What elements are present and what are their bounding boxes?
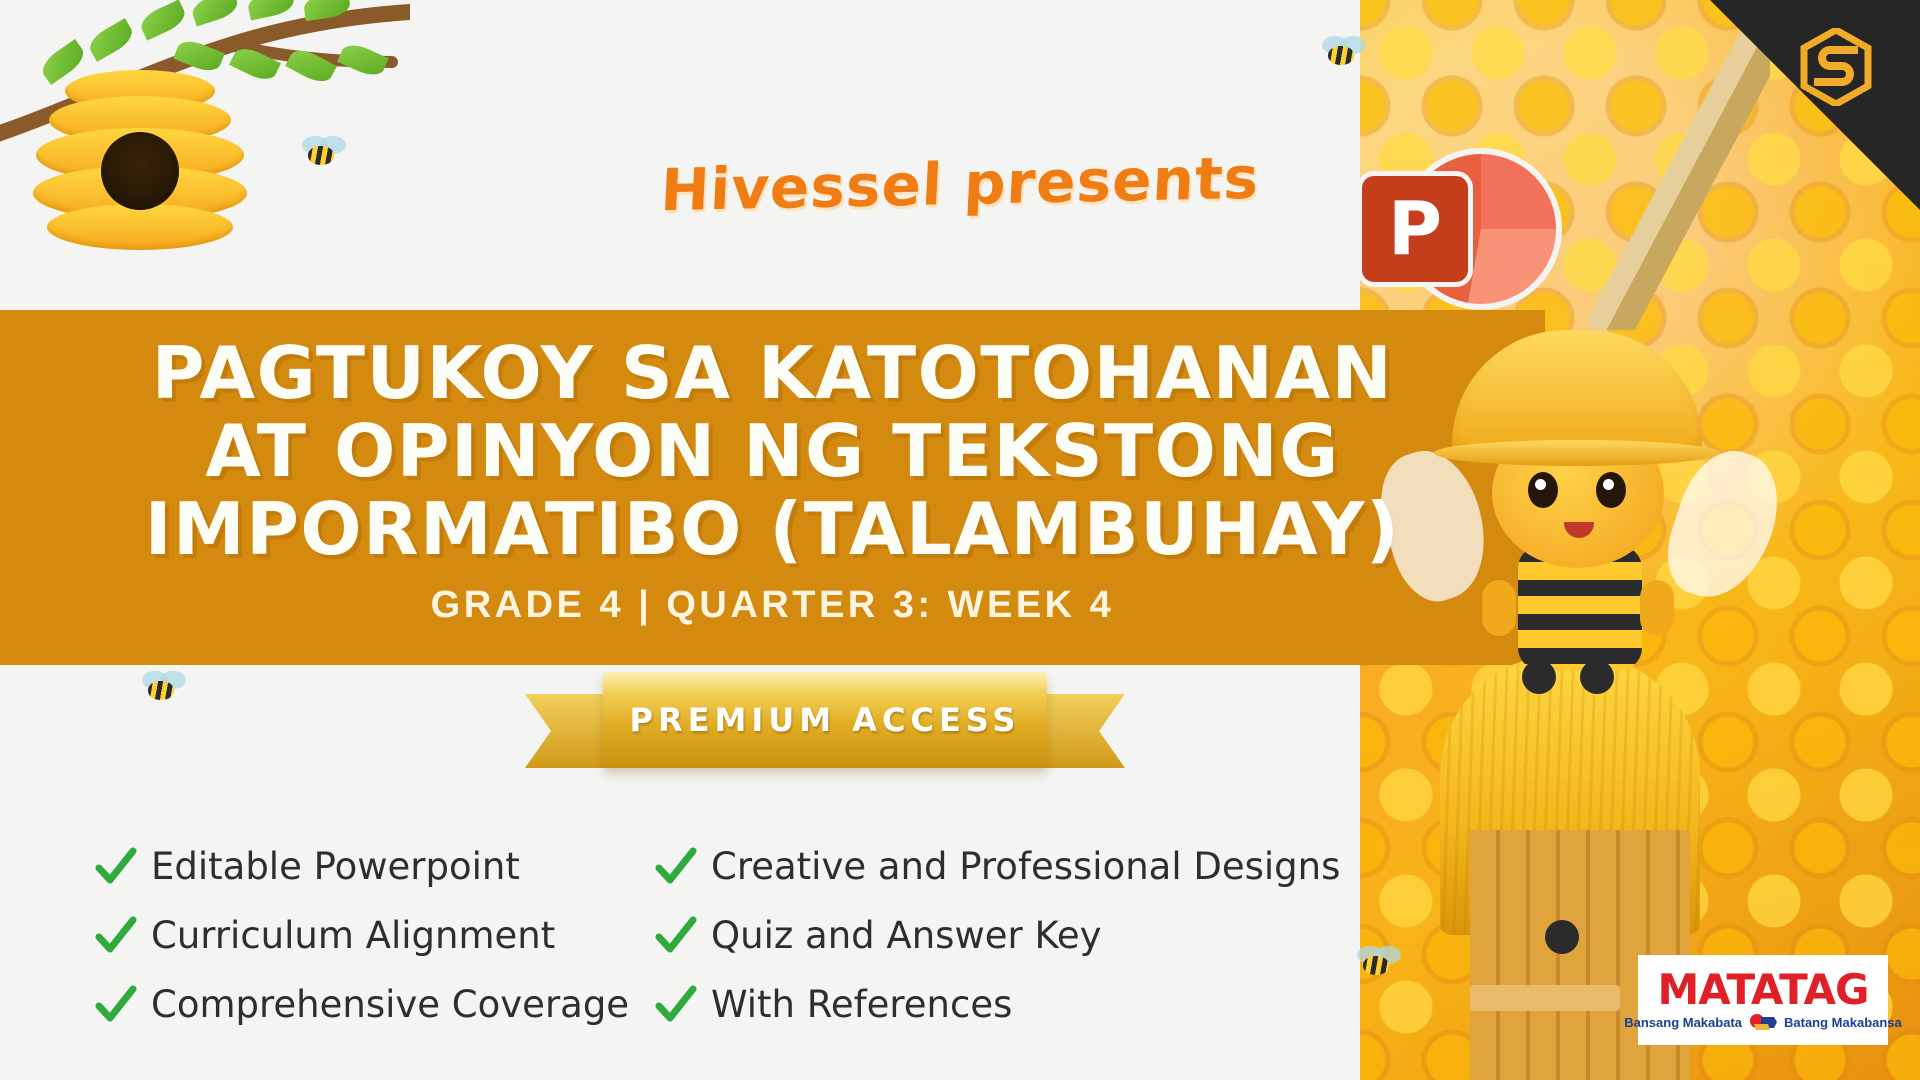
green-checkmark-icon xyxy=(95,984,137,1026)
poster-canvas: Hivessel presents P PAGTUKOY SA KATOTOHA… xyxy=(0,0,1920,1080)
fence-knot-decor xyxy=(1545,920,1579,954)
green-checkmark-icon xyxy=(655,915,697,957)
list-item: Creative and Professional Designs xyxy=(655,845,1355,888)
bee-icon xyxy=(1320,40,1366,72)
feature-column-right: Creative and Professional Designs Quiz a… xyxy=(655,845,1355,1026)
feature-label: Editable Powerpoint xyxy=(151,845,520,888)
feature-label: Quiz and Answer Key xyxy=(711,914,1102,957)
feature-label: Comprehensive Coverage xyxy=(151,983,629,1026)
green-checkmark-icon xyxy=(95,915,137,957)
green-checkmark-icon xyxy=(655,846,697,888)
bee-icon xyxy=(140,675,186,707)
title-band: PAGTUKOY SA KATOTOHANAN AT OPINYON NG TE… xyxy=(0,310,1545,665)
microsoft-powerpoint-icon: P xyxy=(1362,148,1552,298)
feature-column-left: Editable Powerpoint Curriculum Alignment… xyxy=(95,845,615,1026)
matatag-logo: MATATAG Bansang Makabata Batang Makabans… xyxy=(1638,955,1888,1045)
feature-label: With References xyxy=(711,983,1012,1026)
feature-list: Editable Powerpoint Curriculum Alignment… xyxy=(95,845,1495,1026)
feature-label: Creative and Professional Designs xyxy=(711,845,1340,888)
green-checkmark-icon xyxy=(655,984,697,1026)
hexagon-s-logo-icon xyxy=(1800,28,1872,106)
page-title: PAGTUKOY SA KATOTOHANAN AT OPINYON NG TE… xyxy=(0,334,1545,568)
list-item: Comprehensive Coverage xyxy=(95,983,615,1026)
matatag-tagline: Bansang Makabata Batang Makabansa xyxy=(1624,1013,1902,1031)
list-item: Curriculum Alignment xyxy=(95,914,615,957)
clasped-hands-icon xyxy=(1748,1013,1778,1031)
list-item: Editable Powerpoint xyxy=(95,845,615,888)
matatag-wordmark: MATATAG xyxy=(1657,969,1868,1011)
feature-label: Curriculum Alignment xyxy=(151,914,555,957)
matatag-tagline-right: Batang Makabansa xyxy=(1784,1015,1902,1030)
green-checkmark-icon xyxy=(95,846,137,888)
list-item: With References xyxy=(655,983,1355,1026)
powerpoint-letter: P xyxy=(1388,192,1442,266)
bee-mascot-icon xyxy=(1430,330,1730,760)
matatag-tagline-left: Bansang Makabata xyxy=(1624,1015,1742,1030)
premium-access-ribbon: PREMIUM ACCESS xyxy=(525,672,1125,792)
list-item: Quiz and Answer Key xyxy=(655,914,1355,957)
ribbon-label: PREMIUM ACCESS xyxy=(630,701,1021,739)
grade-quarter-subtitle: GRADE 4 | QUARTER 3: WEEK 4 xyxy=(0,584,1545,627)
